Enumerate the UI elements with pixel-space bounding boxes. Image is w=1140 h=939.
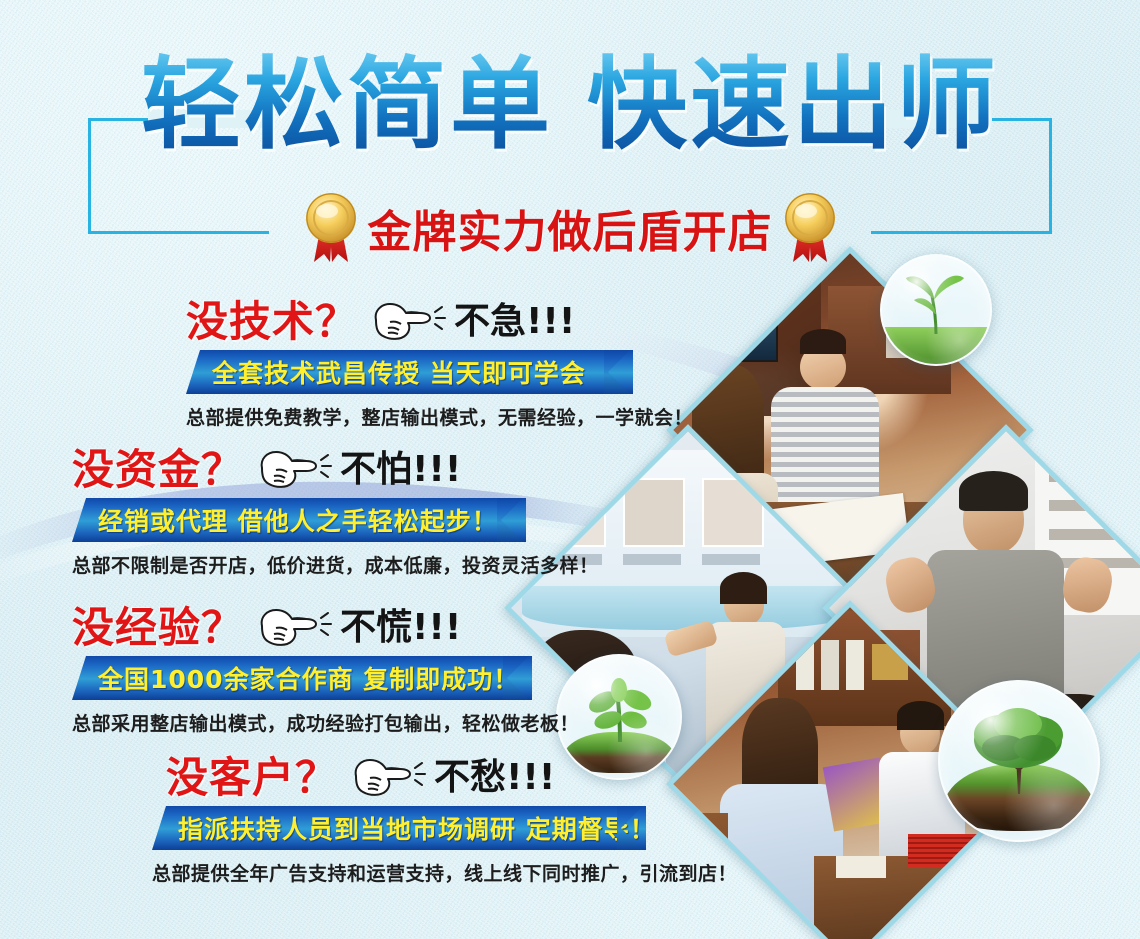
question-text: 没经验？: [72, 594, 244, 655]
question-row: 没经验？ 不慌!!!: [72, 598, 579, 650]
highlight-banner: 经销或代理 借他人之手轻松起步！: [72, 498, 542, 542]
pointing-hand-icon: [254, 446, 336, 492]
answer-text: 不怕!!!: [340, 440, 461, 492]
main-title-left: 轻松简单: [141, 46, 553, 163]
banner-body: 指派扶持人员到当地市场调研 定期督导！: [152, 806, 646, 850]
banner-body: 全套技术武昌传授 当天即可学会: [186, 350, 633, 394]
question-text: 没客户？: [166, 744, 338, 805]
poster-canvas: 轻松简单快速出师: [0, 0, 1140, 939]
pointing-hand-icon: [254, 604, 336, 650]
question-text: 没技术？: [186, 288, 358, 349]
question-row: 没资金？ 不怕!!!: [72, 440, 599, 492]
feature-section-3: 没客户？ 不愁!!! 指派扶持: [166, 748, 737, 886]
banner-text: 全套技术武昌传授 当天即可学会: [212, 354, 586, 390]
question-row: 没技术？ 不急!!!: [186, 292, 693, 344]
bubble-tree-bottom: [938, 680, 1100, 842]
question-text: 没资金？: [72, 436, 244, 497]
pointing-hand-icon: [348, 754, 430, 800]
banner-body: 全国1000余家合作商 复制即成功！: [72, 656, 532, 700]
main-title-right: 快速出师: [587, 46, 999, 163]
page-title: 轻松简单快速出师: [0, 52, 1140, 158]
description-text: 总部提供全年广告支持和运营支持，线上线下同时推广，引流到店！: [152, 859, 737, 886]
gold-medal-left-icon: [302, 190, 360, 266]
feature-section-2: 没经验？ 不慌!!! 全国10: [72, 598, 579, 736]
answer-text: 不慌!!!: [340, 598, 461, 650]
header-block: 轻松简单快速出师: [0, 0, 1140, 270]
highlight-banner: 全套技术武昌传授 当天即可学会: [186, 350, 656, 394]
bubble-sprout-top: [880, 254, 992, 366]
answer-text: 不愁!!!: [434, 748, 555, 800]
banner-text: 指派扶持人员到当地市场调研 定期督导！: [178, 810, 656, 846]
description-text: 总部不限制是否开店，低价进货，成本低廉，投资灵活多样！: [72, 551, 599, 578]
banner-text: 经销或代理 借他人之手轻松起步！: [98, 502, 498, 538]
answer-text: 不急!!!: [454, 292, 575, 344]
question-row: 没客户？ 不愁!!!: [166, 748, 737, 800]
highlight-banner: 指派扶持人员到当地市场调研 定期督导！: [152, 806, 662, 850]
highlight-banner: 全国1000余家合作商 复制即成功！: [72, 656, 552, 700]
description-text: 总部提供免费教学，整店输出模式，无需经验，一学就会！: [186, 403, 693, 430]
feature-section-0: 没技术？ 不急!!!: [186, 292, 693, 430]
feature-section-1: 没资金？ 不怕!!! 经销或代: [72, 440, 599, 578]
description-text: 总部采用整店输出模式，成功经验打包输出，轻松做老板！: [72, 709, 579, 736]
banner-text: 全国1000余家合作商 复制即成功！: [98, 660, 519, 696]
banner-body: 经销或代理 借他人之手轻松起步！: [72, 498, 526, 542]
pointing-hand-icon: [368, 298, 450, 344]
